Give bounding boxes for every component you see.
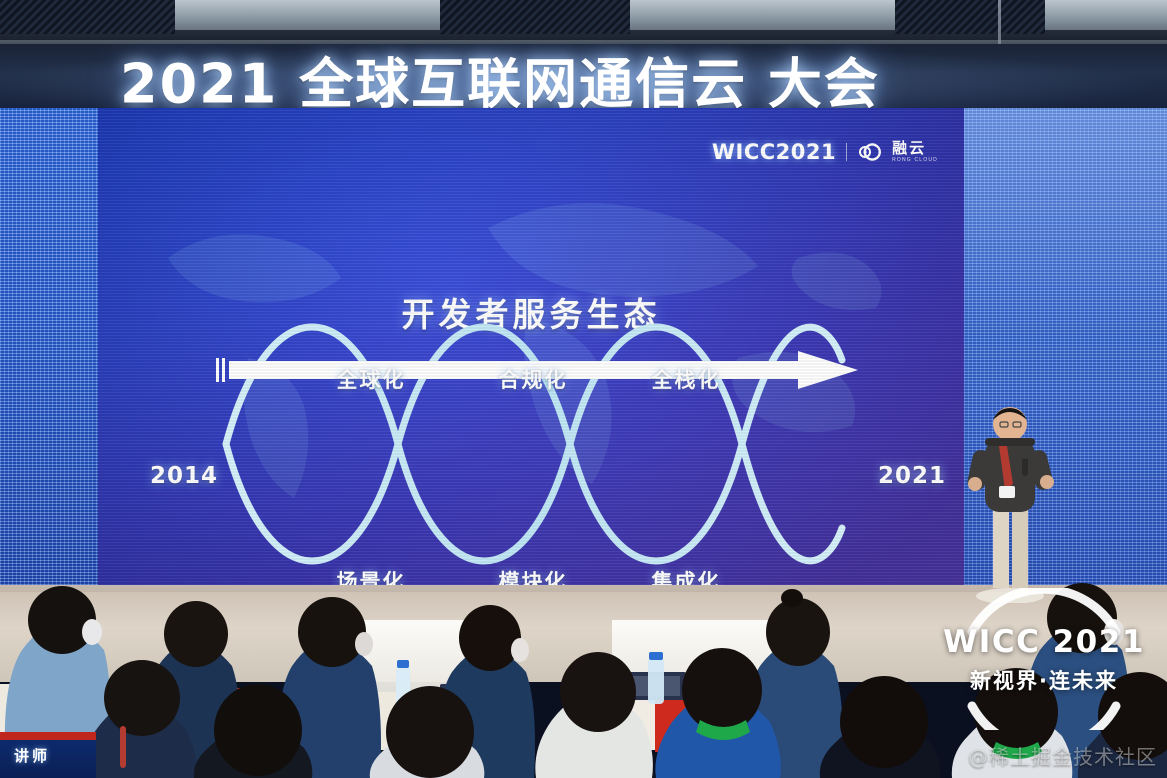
- banner-title: 2021 全球互联网通信云 大会: [120, 44, 880, 114]
- led-panel-left: [0, 108, 98, 600]
- presentation-slide: WICC2021 融云 RONG CLOUD 开发者服务生态: [98, 108, 964, 600]
- lecturer-badge-label: 讲师: [14, 745, 50, 766]
- timeline-wave-graphic: [98, 108, 964, 600]
- timeline-end-year: 2021: [878, 463, 946, 489]
- label-top-1: 合规化: [499, 364, 568, 394]
- audience-row-front: [79, 648, 1167, 778]
- label-top-0: 全球化: [337, 364, 406, 394]
- venue-banner: 2021 全球互联网通信云 大会: [0, 44, 1167, 114]
- led-sheen: [964, 108, 1167, 334]
- led-pixel-texture-left: [0, 108, 98, 600]
- speaker-on-stage: [955, 398, 1065, 603]
- timeline-start-year: 2014: [150, 463, 218, 489]
- badge-red-stripe: [0, 732, 96, 740]
- audience: [0, 580, 1167, 778]
- conference-photo: 2021 全球互联网通信云 大会: [0, 0, 1167, 778]
- label-top-2: 全栈化: [652, 364, 721, 394]
- lecturer-badge: 讲师: [0, 732, 96, 778]
